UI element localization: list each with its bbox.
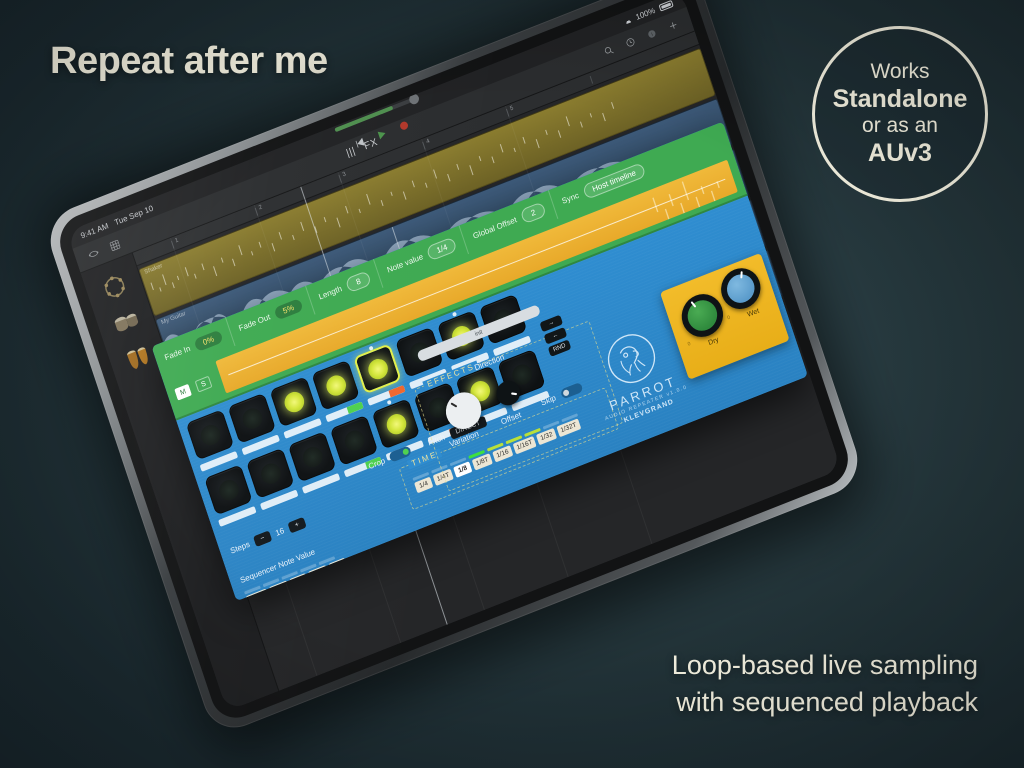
caption-line-2: with sequenced playback (672, 684, 978, 720)
wet-zero-label: 0 (727, 315, 731, 322)
bongos-icon[interactable] (108, 305, 144, 341)
plus-icon[interactable] (666, 18, 682, 33)
steps-label: Steps (229, 540, 251, 556)
dry-zero-label: 0 (687, 341, 691, 348)
badge-line-2: Standalone (833, 85, 968, 115)
wifi-icon (623, 16, 632, 25)
length-value[interactable]: 8 (345, 270, 372, 293)
step-pad[interactable] (269, 376, 318, 427)
screenshot-stage: Repeat after me Works Standalone or as a… (0, 0, 1024, 768)
step-pad[interactable] (246, 448, 295, 499)
step-pad[interactable] (372, 398, 421, 449)
note-value-value[interactable]: 1/4 (426, 236, 458, 261)
solo-button[interactable]: S (195, 376, 213, 393)
steps-value: 16 (274, 526, 285, 538)
battery-icon (658, 0, 673, 11)
fade-out-label: Fade Out (237, 312, 271, 333)
feature-caption: Loop-based live sampling with sequenced … (672, 647, 978, 720)
step-pad[interactable] (288, 431, 337, 482)
wet-label: Wet (747, 308, 761, 319)
tablet-device: 9:41 AM Tue Sep 10 100% (42, 0, 866, 738)
step-pad[interactable] (186, 409, 235, 460)
global-offset-value[interactable]: 2 (520, 201, 547, 224)
settings-icon[interactable] (623, 35, 639, 50)
search-icon[interactable] (601, 43, 617, 58)
help-icon[interactable]: i (644, 26, 660, 41)
standalone-auv3-badge: Works Standalone or as an AUv3 (812, 26, 988, 202)
badge-line-1: Works (870, 60, 929, 85)
mute-button[interactable]: M (174, 384, 192, 401)
steps-decrement-button[interactable]: − (253, 531, 271, 547)
tambourine-icon[interactable] (96, 269, 132, 305)
caption-line-1: Loop-based live sampling (672, 647, 978, 683)
step-pad[interactable] (204, 464, 253, 515)
fade-in-value[interactable]: 0% (193, 329, 223, 351)
dry-label: Dry (708, 336, 720, 347)
step-pad[interactable] (330, 415, 379, 466)
tablet-bezel: 9:41 AM Tue Sep 10 100% (42, 0, 866, 738)
length-label: Length (317, 284, 343, 302)
wet-knob[interactable] (716, 262, 766, 315)
page-title: Repeat after me (50, 40, 328, 83)
badge-line-3: or as an (862, 114, 938, 139)
fade-out-value[interactable]: 5% (273, 298, 303, 320)
grid-icon[interactable] (107, 238, 123, 253)
steps-increment-button[interactable]: + (288, 517, 306, 533)
badge-line-4: AUv3 (868, 139, 932, 169)
step-pad-selected[interactable] (353, 343, 402, 394)
fade-in-label: Fade In (163, 343, 191, 361)
dry-wet-panel: Dry 0 Wet 0 (660, 253, 790, 380)
step-pad[interactable] (311, 360, 360, 411)
sync-label: Sync (561, 190, 580, 205)
loop-icon[interactable] (86, 246, 102, 261)
dry-knob[interactable] (676, 288, 728, 343)
tablet-screen: 9:41 AM Tue Sep 10 100% (67, 0, 842, 711)
step-pad[interactable] (228, 393, 277, 444)
note-value-label: Note value (386, 252, 424, 275)
